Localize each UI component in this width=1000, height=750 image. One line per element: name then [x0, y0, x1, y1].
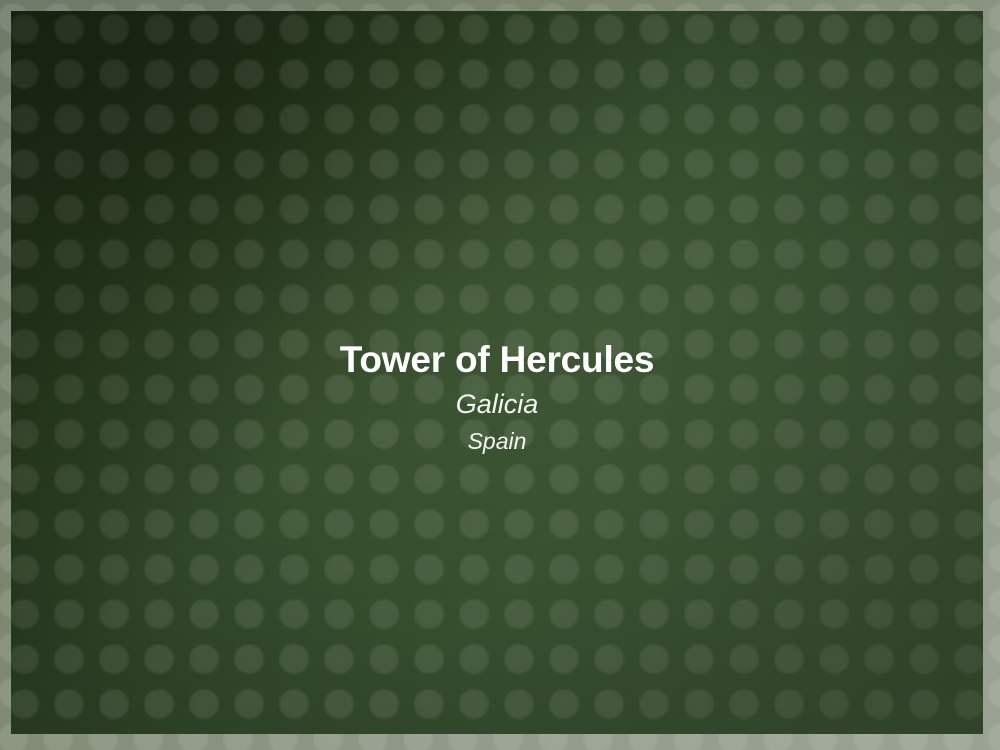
slide-text-block: Tower of Hercules Galicia Spain [11, 337, 983, 456]
slide-subtitle-country: Spain [11, 427, 983, 456]
slide-title: Tower of Hercules [11, 337, 983, 383]
presentation-slide: Tower of Hercules Galicia Spain [0, 0, 1000, 750]
slide-canvas: Tower of Hercules Galicia Spain [11, 11, 983, 734]
slide-subtitle-region: Galicia [11, 387, 983, 421]
